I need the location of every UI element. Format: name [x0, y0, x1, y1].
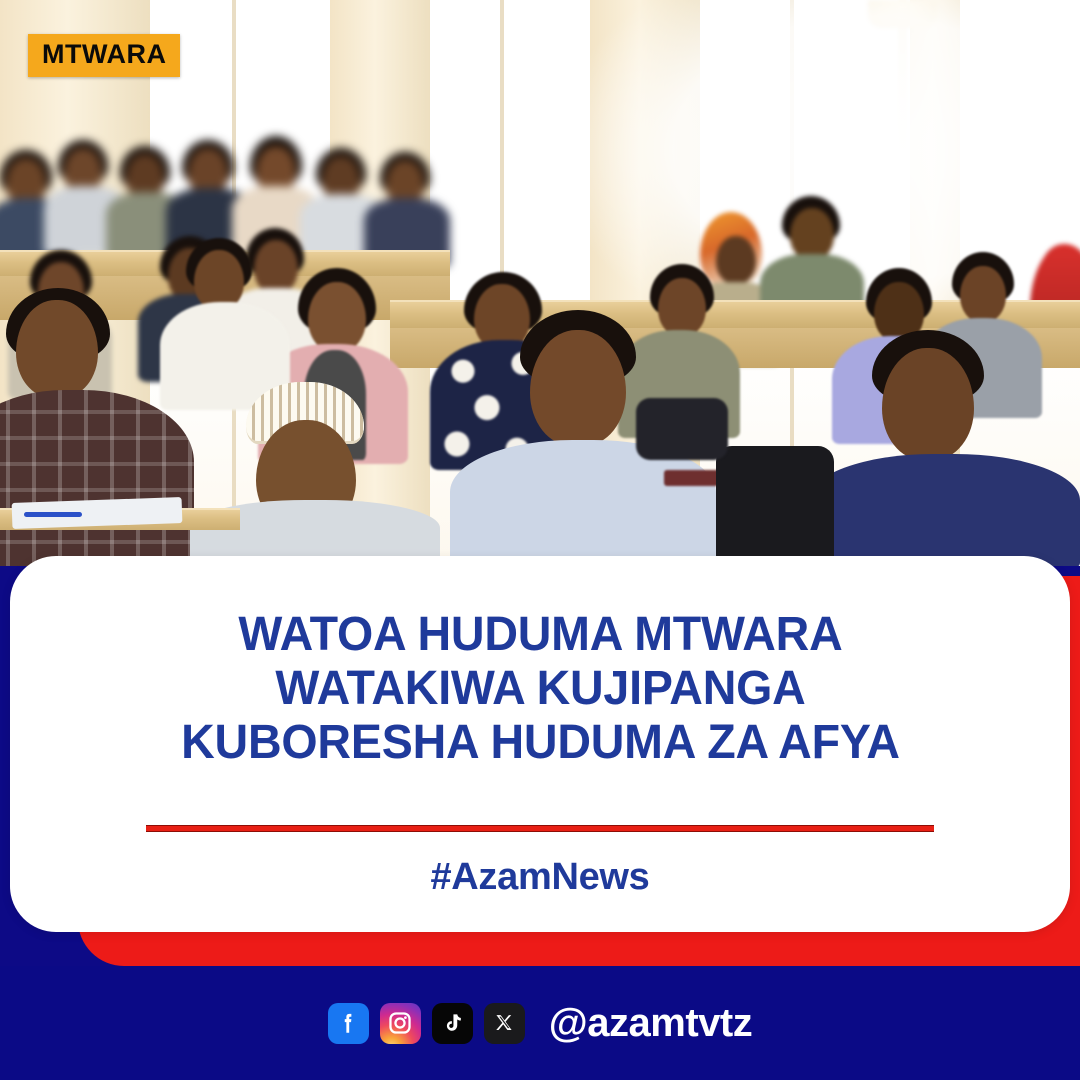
headline-line-3: KUBORESHA HUDUMA ZA AFYA	[181, 716, 900, 770]
headline-card: WATOA HUDUMA MTWARA WATAKIWA KUJIPANGA K…	[10, 556, 1070, 932]
x-icon[interactable]	[484, 1003, 525, 1044]
social-footer: @azamtvtz	[0, 966, 1080, 1080]
plaid-shirt	[0, 390, 194, 566]
chair-back	[636, 398, 728, 460]
divider-rule	[146, 825, 934, 832]
headline-line-2: WATAKIWA KUJIPANGA	[181, 662, 900, 716]
hashtag: #AzamNews	[430, 856, 649, 899]
navy-shirt	[808, 454, 1080, 566]
tiktok-icon[interactable]	[432, 1003, 473, 1044]
page-title: WATOA HUDUMA MTWARA WATAKIWA KUJIPANGA K…	[181, 608, 900, 769]
news-photo: MTWARA	[0, 0, 1080, 566]
facebook-icon[interactable]	[328, 1003, 369, 1044]
headline-line-1: WATOA HUDUMA MTWARA	[181, 608, 900, 662]
news-graphic: MTWARA WATOA HUDUMA MTWARA WATAKIWA KUJI…	[0, 0, 1080, 1080]
social-handle: @azamtvtz	[549, 1001, 752, 1046]
location-badge: MTWARA	[28, 34, 180, 77]
chair-back	[716, 446, 834, 566]
pen	[24, 512, 82, 517]
instagram-icon[interactable]	[380, 1003, 421, 1044]
